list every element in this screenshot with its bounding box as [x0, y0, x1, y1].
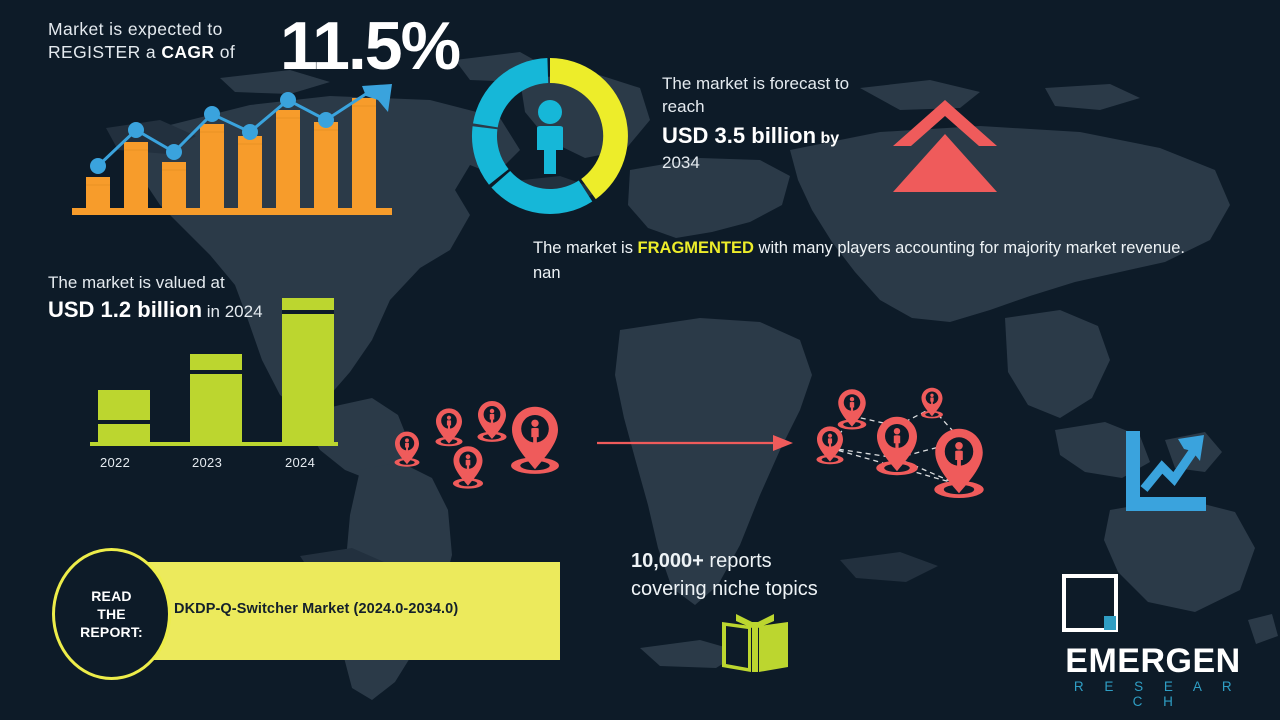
cagr-value: 11.5%	[280, 12, 459, 80]
forecast-caption-line2: reach	[662, 97, 705, 116]
fragmentation-highlight: FRAGMENTED	[638, 239, 754, 257]
donut-slice-cyan-2	[472, 126, 509, 185]
fragmentation-pre: The market is	[533, 239, 638, 257]
map-pin-person-icon	[921, 388, 943, 419]
year-label-2024: 2024	[285, 455, 315, 470]
fragmentation-statement: The market is FRAGMENTED with many playe…	[533, 236, 1213, 286]
cagr-caption-line1: Market is expected to	[48, 19, 223, 39]
year-label-2022: 2022	[100, 455, 130, 470]
market-share-donut	[466, 52, 634, 220]
reports-line2: covering niche topics	[631, 578, 818, 600]
report-banner[interactable]: DKDP-Q-Switcher Market (2024.0-2034.0)	[146, 562, 560, 660]
forecast-by: by	[816, 130, 839, 147]
bar-2022	[98, 390, 150, 442]
map-pins-scattered	[380, 386, 580, 496]
map-pin-person-icon	[511, 407, 559, 474]
logo-square-icon	[1060, 572, 1120, 634]
forecast-block: The market is forecast to reach USD 3.5 …	[662, 72, 902, 174]
logo-wordmark: EMERGEN	[1060, 643, 1246, 679]
cagr-caption-line2-pre: REGISTER a	[48, 42, 161, 62]
reports-count-rest: reports	[704, 550, 772, 572]
open-book-icon	[718, 612, 792, 674]
read-the-report-badge[interactable]: READTHEREPORT:	[52, 548, 171, 680]
cagr-block: Market is expected to REGISTER a CAGR of…	[48, 18, 468, 64]
map-pin-person-icon	[435, 408, 462, 446]
map-pin-person-icon	[395, 432, 420, 467]
reports-count-block: 10,000+ reports covering niche topics	[631, 547, 931, 603]
right-arrow-icon	[595, 432, 795, 454]
cagr-caption: Market is expected to REGISTER a CAGR of	[48, 18, 278, 64]
map-pins-networked	[802, 386, 1012, 501]
forecast-value: USD 3.5 billion	[662, 123, 816, 148]
chart-baseline	[72, 208, 392, 215]
valuation-caption: The market is valued at	[48, 272, 348, 294]
reports-count: 10,000+	[631, 550, 704, 572]
map-pin-person-icon	[838, 389, 867, 429]
map-pin-person-icon	[934, 429, 983, 498]
year-label-2023: 2023	[192, 455, 222, 470]
cagr-caption-bold: CAGR	[161, 42, 214, 62]
forecast-caption: The market is forecast to reach	[662, 72, 902, 118]
read-the-report-label: READTHEREPORT:	[80, 587, 143, 641]
map-pin-person-icon	[453, 446, 483, 488]
forecast-value-line: USD 3.5 billion by	[662, 122, 902, 152]
growth-chart-icon	[1118, 425, 1210, 517]
cagr-caption-line2-post: of	[214, 42, 235, 62]
forecast-year: 2034	[662, 152, 902, 174]
report-title: DKDP-Q-Switcher Market (2024.0-2034.0)	[174, 601, 458, 617]
map-pin-person-icon	[477, 401, 506, 442]
map-pin-person-icon	[816, 426, 843, 464]
donut-slice-cyan-3	[473, 58, 548, 127]
logo-subtitle: R E S E A R C H	[1060, 679, 1246, 709]
map-pin-person-icon	[876, 417, 918, 475]
infographic-canvas: Market is expected to REGISTER a CAGR of…	[0, 0, 1280, 720]
bar-2023	[190, 354, 242, 442]
growth-trend-chart	[62, 84, 412, 220]
green-baseline	[90, 442, 338, 446]
person-icon	[537, 100, 563, 174]
emergen-research-logo: EMERGEN R E S E A R C H	[1060, 572, 1246, 709]
forecast-caption-line1: The market is forecast to	[662, 74, 849, 93]
up-chevron-icon	[890, 96, 1000, 196]
market-value-by-year-chart	[78, 292, 338, 460]
donut-slice-cyan-1	[491, 171, 592, 214]
bar-2024	[282, 298, 334, 442]
